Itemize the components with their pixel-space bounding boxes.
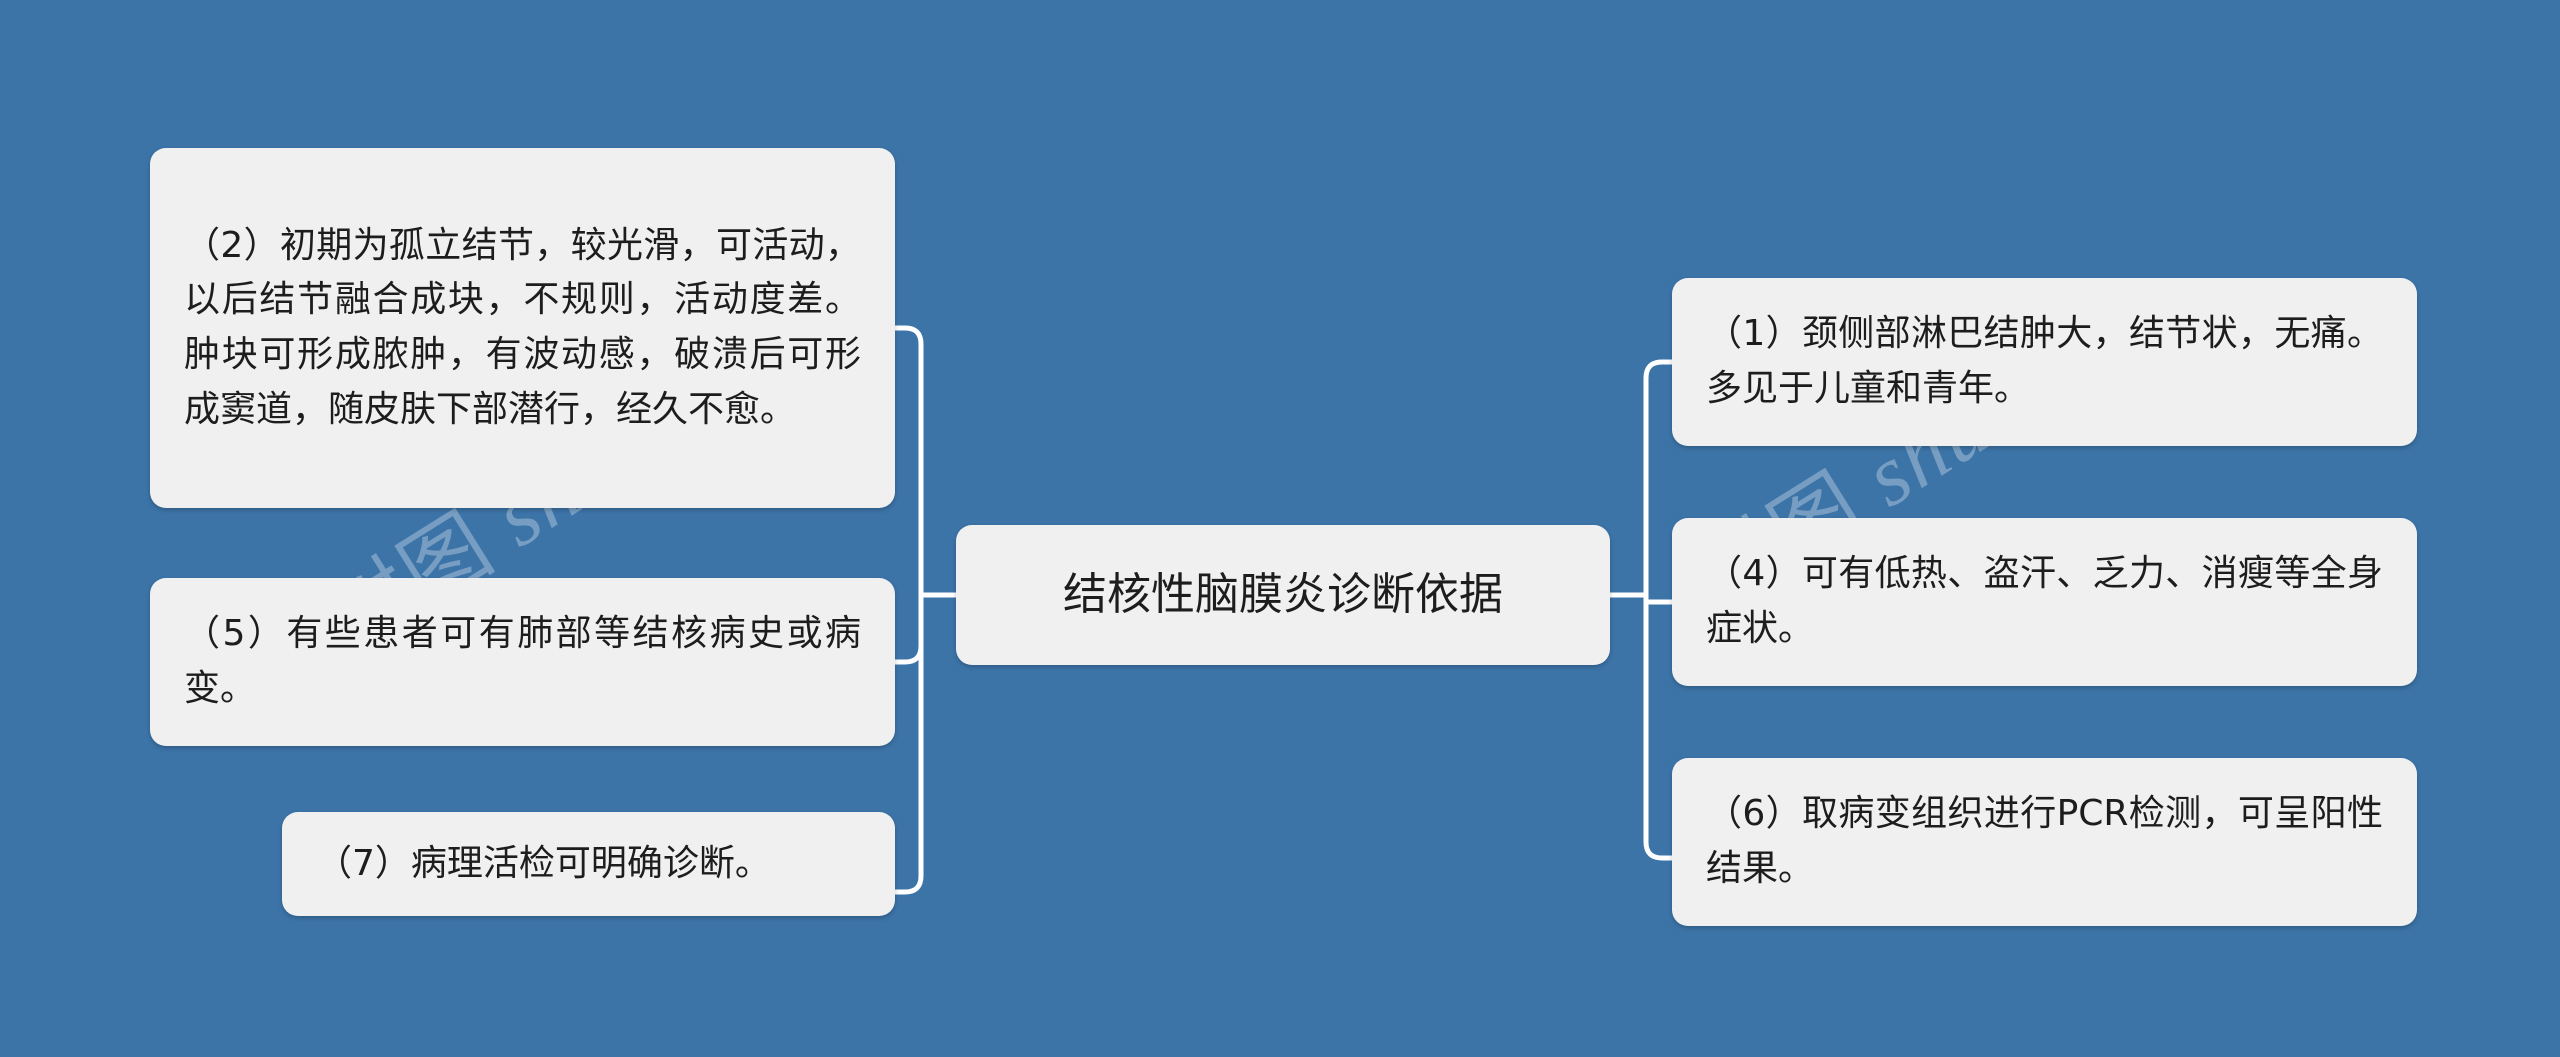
mindmap-node-4-label: （4）可有低热、盗汗、乏力、消瘦等全身症状。 xyxy=(1706,547,2383,656)
mindmap-node-5[interactable]: （5）有些患者可有肺部等结核病史或病变。 xyxy=(150,578,895,746)
mindmap-node-7[interactable]: （7）病理活检可明确诊断。 xyxy=(282,812,895,916)
mindmap-node-4[interactable]: （4）可有低热、盗汗、乏力、消瘦等全身症状。 xyxy=(1672,518,2417,686)
mindmap-node-7-label: （7）病理活检可明确诊断。 xyxy=(316,837,861,892)
mindmap-root-label: 结核性脑膜炎诊断依据 xyxy=(984,562,1582,629)
mindmap-node-6[interactable]: （6）取病变组织进行PCR检测，可呈阳性结果。 xyxy=(1672,758,2417,926)
mindmap-canvas: 树图 shutu.cn 树图 shutu.cn （2）初期为孤立结节，较光滑，可… xyxy=(0,0,2560,1057)
mindmap-node-2-label: （2）初期为孤立结节，较光滑，可活动，以后结节融合成块，不规则，活动度差。肿块可… xyxy=(184,219,861,438)
mindmap-node-2[interactable]: （2）初期为孤立结节，较光滑，可活动，以后结节融合成块，不规则，活动度差。肿块可… xyxy=(150,148,895,508)
mindmap-node-1-label: （1）颈侧部淋巴结肿大，结节状，无痛。多见于儿童和青年。 xyxy=(1706,307,2383,416)
connector-left-trunk xyxy=(895,328,921,892)
connector-left-mid xyxy=(895,646,921,662)
mindmap-node-5-label: （5）有些患者可有肺部等结核病史或病变。 xyxy=(184,607,861,716)
connector-right-trunk xyxy=(1646,362,1672,858)
mindmap-node-1[interactable]: （1）颈侧部淋巴结肿大，结节状，无痛。多见于儿童和青年。 xyxy=(1672,278,2417,446)
mindmap-node-6-label: （6）取病变组织进行PCR检测，可呈阳性结果。 xyxy=(1706,787,2383,896)
mindmap-root-node[interactable]: 结核性脑膜炎诊断依据 xyxy=(956,525,1610,665)
